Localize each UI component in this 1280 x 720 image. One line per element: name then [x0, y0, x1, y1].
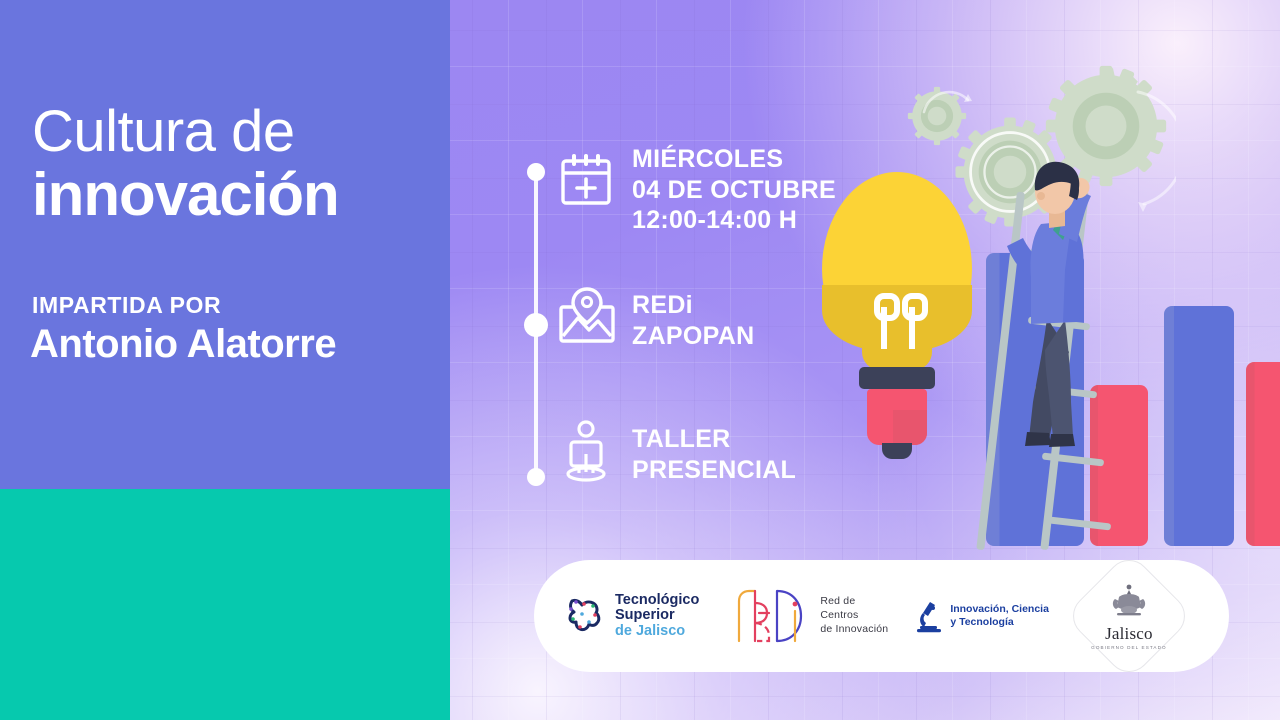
- tsj-line-3: de Jalisco: [615, 624, 699, 640]
- tsj-line-2: Superior: [615, 608, 699, 624]
- microscope-icon: [914, 599, 944, 633]
- gear-rotation-arc-large-icon: [1128, 86, 1176, 216]
- lightbulb-filament-stem-left: [881, 307, 887, 349]
- ict-wordmark: Innovación, Ciencia y Tecnología: [950, 603, 1049, 628]
- logo-innovacion-ciencia-tecnologia: Innovación, Ciencia y Tecnología: [914, 599, 1049, 633]
- sponsor-logo-bar: Tecnológico Superior de Jalisco Red de C…: [534, 560, 1229, 672]
- event-poster: Cultura de innovación IMPARTIDA POR Anto…: [0, 0, 1280, 720]
- poster-title: Cultura de innovación: [32, 104, 432, 224]
- detail-modality-text: TALLER PRESENCIAL: [632, 424, 796, 485]
- title-line-2: innovación: [32, 166, 432, 224]
- lightbulb-base-shade: [893, 410, 927, 445]
- redi-tagline: Red de Centros de Innovación: [820, 595, 888, 637]
- person-on-ladder-illustration: [985, 150, 1125, 480]
- left-teal-block: [0, 489, 450, 720]
- jalisco-name: Jalisco: [1091, 624, 1167, 644]
- lightbulb-filament-left: [874, 293, 900, 321]
- ict-line-1: Innovación, Ciencia: [950, 603, 1049, 616]
- speaker-label: IMPARTIDA POR: [32, 292, 221, 319]
- left-title-panel: [0, 0, 450, 489]
- lightbulb-filament-right: [902, 293, 928, 321]
- title-line-1: Cultura de: [32, 99, 295, 164]
- tsj-line-1: Tecnológico: [615, 593, 699, 609]
- jalisco-crown-seal-icon: [1107, 583, 1151, 619]
- map-pin-icon: [558, 287, 616, 345]
- redi-line-1: Red de: [820, 595, 888, 609]
- redi-line-3: de Innovación: [820, 623, 888, 637]
- speaker-name: Antonio Alatorre: [30, 322, 336, 367]
- logo-redi: Red de Centros de Innovación: [725, 585, 888, 647]
- logo-gobierno-jalisco: Jalisco GOBIERNO DEL ESTADO: [1083, 570, 1175, 662]
- person-icon: [558, 420, 614, 482]
- detail-date-text: MIÉRCOLES 04 DE OCTUBRE 12:00-14:00 H: [632, 144, 836, 236]
- timeline-dot-1: [527, 163, 545, 181]
- lightbulb-cap: [859, 367, 935, 389]
- detail-location-text: REDi ZAPOPAN: [632, 290, 754, 351]
- redi-line-2: Centros: [820, 609, 888, 623]
- logo-tecnologico-superior-de-jalisco: Tecnológico Superior de Jalisco: [562, 593, 699, 640]
- chart-bar-4: [1246, 362, 1280, 546]
- timeline-dot-3: [527, 468, 545, 486]
- lightbulb-tip: [882, 443, 912, 459]
- gear-rotation-arc-small-icon: [920, 82, 980, 128]
- lightbulb-filament-stem-right: [909, 307, 915, 349]
- redi-wordmark-icon: [725, 585, 811, 647]
- tsj-wordmark: Tecnológico Superior de Jalisco: [615, 593, 699, 640]
- calendar-plus-icon: [558, 152, 614, 208]
- jalisco-subtitle: GOBIERNO DEL ESTADO: [1091, 645, 1167, 650]
- timeline-dot-2: [524, 313, 548, 337]
- chart-bar-3: [1164, 306, 1234, 546]
- jalisco-map-dots-icon: [562, 593, 608, 639]
- lightbulb-neck: [862, 336, 932, 370]
- ict-line-2: y Tecnología: [950, 616, 1049, 629]
